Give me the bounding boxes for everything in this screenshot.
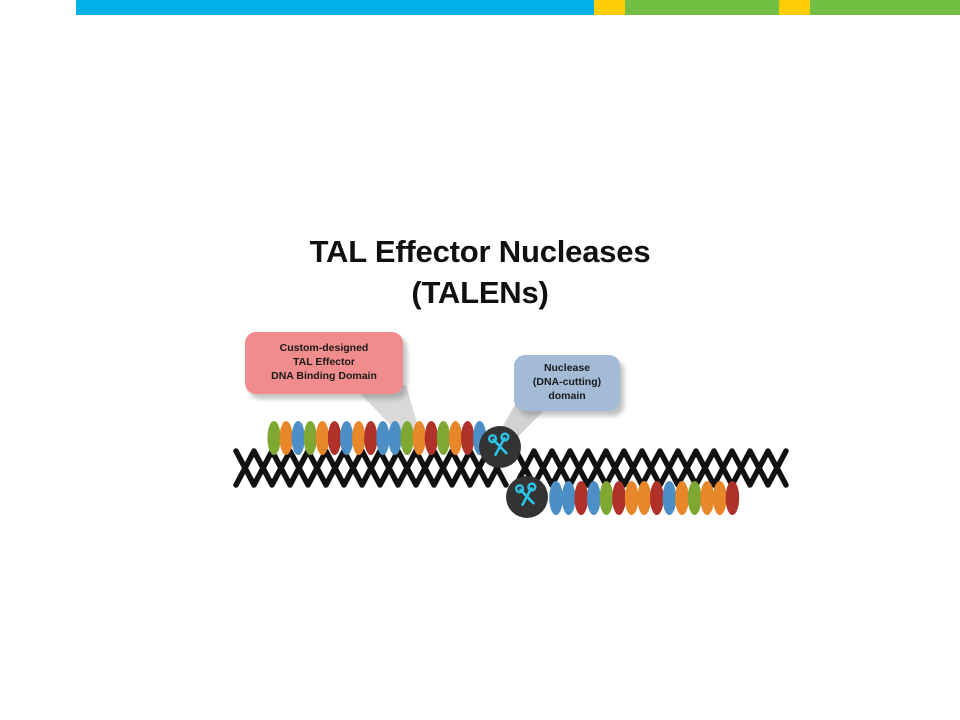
dna-helix-strand	[516, 451, 786, 485]
tal-repeat-bead	[461, 421, 474, 455]
tal-repeat-bead	[663, 481, 677, 515]
dna-helix-strand	[236, 451, 506, 485]
tal-repeat-bead	[600, 481, 614, 515]
upper-nuclease	[479, 426, 521, 468]
tal-repeat-bead	[574, 481, 588, 515]
tal-repeat-bead	[328, 421, 341, 455]
tal-repeat-bead	[267, 421, 280, 455]
tal-repeat-bead	[549, 481, 563, 515]
tal-repeat-bead	[700, 481, 714, 515]
tal-repeat-bead	[388, 421, 401, 455]
tal-repeat-bead	[401, 421, 414, 455]
callout-tal-line1: Custom-designed	[280, 342, 369, 356]
tal-repeat-bead	[280, 421, 293, 455]
tal-repeat-bead	[437, 421, 450, 455]
tal-repeat-bead	[364, 421, 377, 455]
callout-nuclease: Nuclease (DNA-cutting) domain	[514, 355, 620, 411]
top-strand-bead-row	[267, 421, 486, 455]
talen-diagram: Custom-designed TAL Effector DNA Binding…	[0, 0, 960, 720]
tal-repeat-bead	[292, 421, 305, 455]
tal-repeat-bead	[688, 481, 702, 515]
tal-repeat-bead	[675, 481, 689, 515]
tal-repeat-bead	[413, 421, 426, 455]
callout-tal-line2: TAL Effector	[293, 356, 355, 370]
tal-repeat-bead	[625, 481, 639, 515]
callout-tal-line3: DNA Binding Domain	[271, 370, 377, 384]
bottom-strand-bead-row	[549, 481, 739, 515]
tal-repeat-bead	[352, 421, 365, 455]
callout-nuclease-line1: Nuclease	[544, 362, 590, 376]
lower-nuclease	[506, 476, 548, 518]
tal-repeat-bead	[425, 421, 438, 455]
tal-repeat-bead	[637, 481, 651, 515]
tal-repeat-bead	[449, 421, 462, 455]
tal-repeat-bead	[713, 481, 727, 515]
tal-repeat-bead	[726, 481, 740, 515]
tal-repeat-bead	[562, 481, 576, 515]
tal-repeat-bead	[340, 421, 353, 455]
callout-nuclease-line2: (DNA-cutting)	[533, 376, 601, 390]
callout-tal-effector: Custom-designed TAL Effector DNA Binding…	[245, 332, 403, 394]
tal-repeat-bead	[304, 421, 317, 455]
tal-repeat-bead	[612, 481, 626, 515]
tal-repeat-bead	[650, 481, 664, 515]
dna-helix-artwork	[0, 0, 960, 720]
tal-repeat-bead	[316, 421, 329, 455]
tal-repeat-bead	[376, 421, 389, 455]
callout-nuclease-line3: domain	[548, 390, 585, 404]
tal-repeat-bead	[587, 481, 601, 515]
